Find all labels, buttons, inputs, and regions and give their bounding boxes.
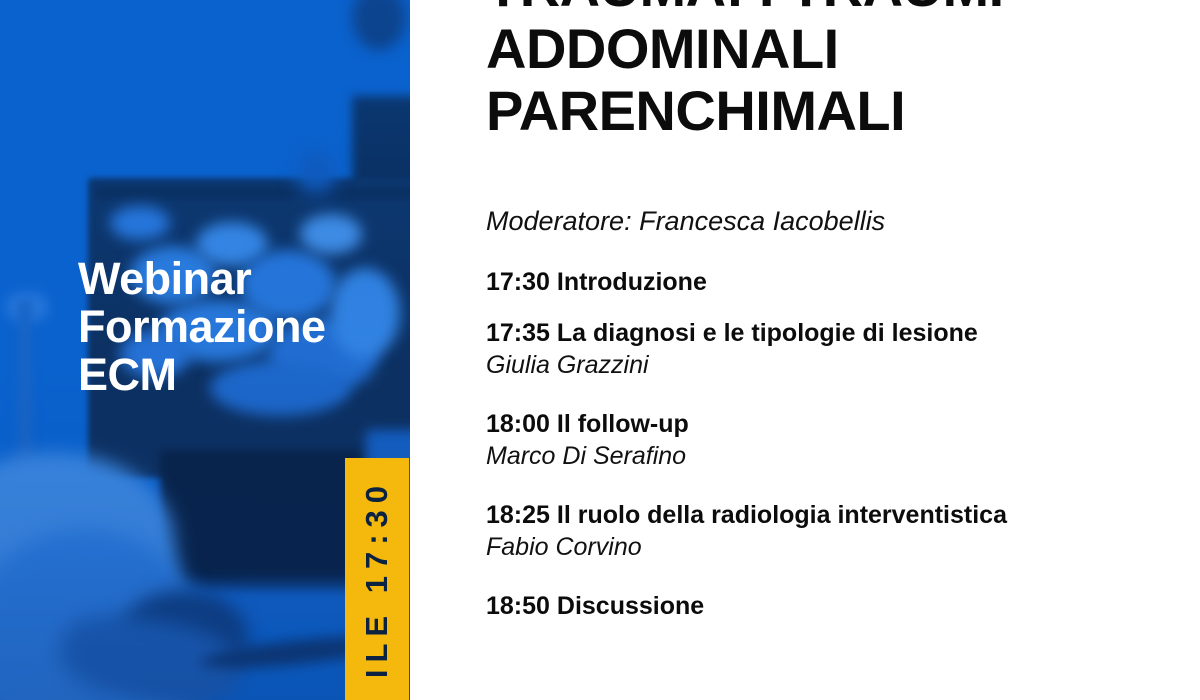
page-title-line-3: PARENCHIMALI <box>486 80 1186 142</box>
webinar-heading-line-3: ECM <box>78 351 408 399</box>
date-bar-rotated-wrapper: ILE 17:30 <box>345 458 409 700</box>
agenda-item-speaker: Giulia Grazzini <box>486 350 1186 381</box>
agenda-item: 17:35 La diagnosi e le tipologie di lesi… <box>486 317 1186 381</box>
agenda-item-title: 18:00 Il follow-up <box>486 408 1186 441</box>
date-bar: ILE 17:30 <box>345 458 409 700</box>
agenda-item-title: 18:50 Discussione <box>486 590 1186 623</box>
agenda-item: 17:30 Introduzione <box>486 266 1186 299</box>
webinar-heading-line-2: Formazione <box>78 303 408 351</box>
moderator-label: Moderatore: Francesca Iacobellis <box>486 206 885 237</box>
right-content-panel: TRAUMA: I TRAUMI ADDOMINALI PARENCHIMALI… <box>410 0 1200 700</box>
webinar-poster: Webinar Formazione ECM ILE 17:30 TRAUMA:… <box>0 0 1200 700</box>
page-title-line-1: TRAUMA: I TRAUMI <box>486 0 1186 18</box>
webinar-heading-line-1: Webinar <box>78 255 408 303</box>
agenda-item: 18:00 Il follow-up Marco Di Serafino <box>486 408 1186 472</box>
agenda-item: 18:25 Il ruolo della radiologia interven… <box>486 499 1186 563</box>
agenda-item-speaker: Marco Di Serafino <box>486 441 1186 472</box>
page-title: TRAUMA: I TRAUMI ADDOMINALI PARENCHIMALI <box>486 0 1186 142</box>
page-title-line-2: ADDOMINALI <box>486 18 1186 80</box>
agenda-item-title: 18:25 Il ruolo della radiologia interven… <box>486 499 1186 532</box>
agenda-item: 18:50 Discussione <box>486 590 1186 623</box>
agenda-item-title: 17:30 Introduzione <box>486 266 1186 299</box>
webinar-heading: Webinar Formazione ECM <box>78 255 408 399</box>
agenda-item-title: 17:35 La diagnosi e le tipologie di lesi… <box>486 317 1186 350</box>
agenda-list: 17:30 Introduzione 17:35 La diagnosi e l… <box>486 266 1186 623</box>
agenda-item-speaker: Fabio Corvino <box>486 532 1186 563</box>
date-bar-text: ILE 17:30 <box>359 479 395 678</box>
